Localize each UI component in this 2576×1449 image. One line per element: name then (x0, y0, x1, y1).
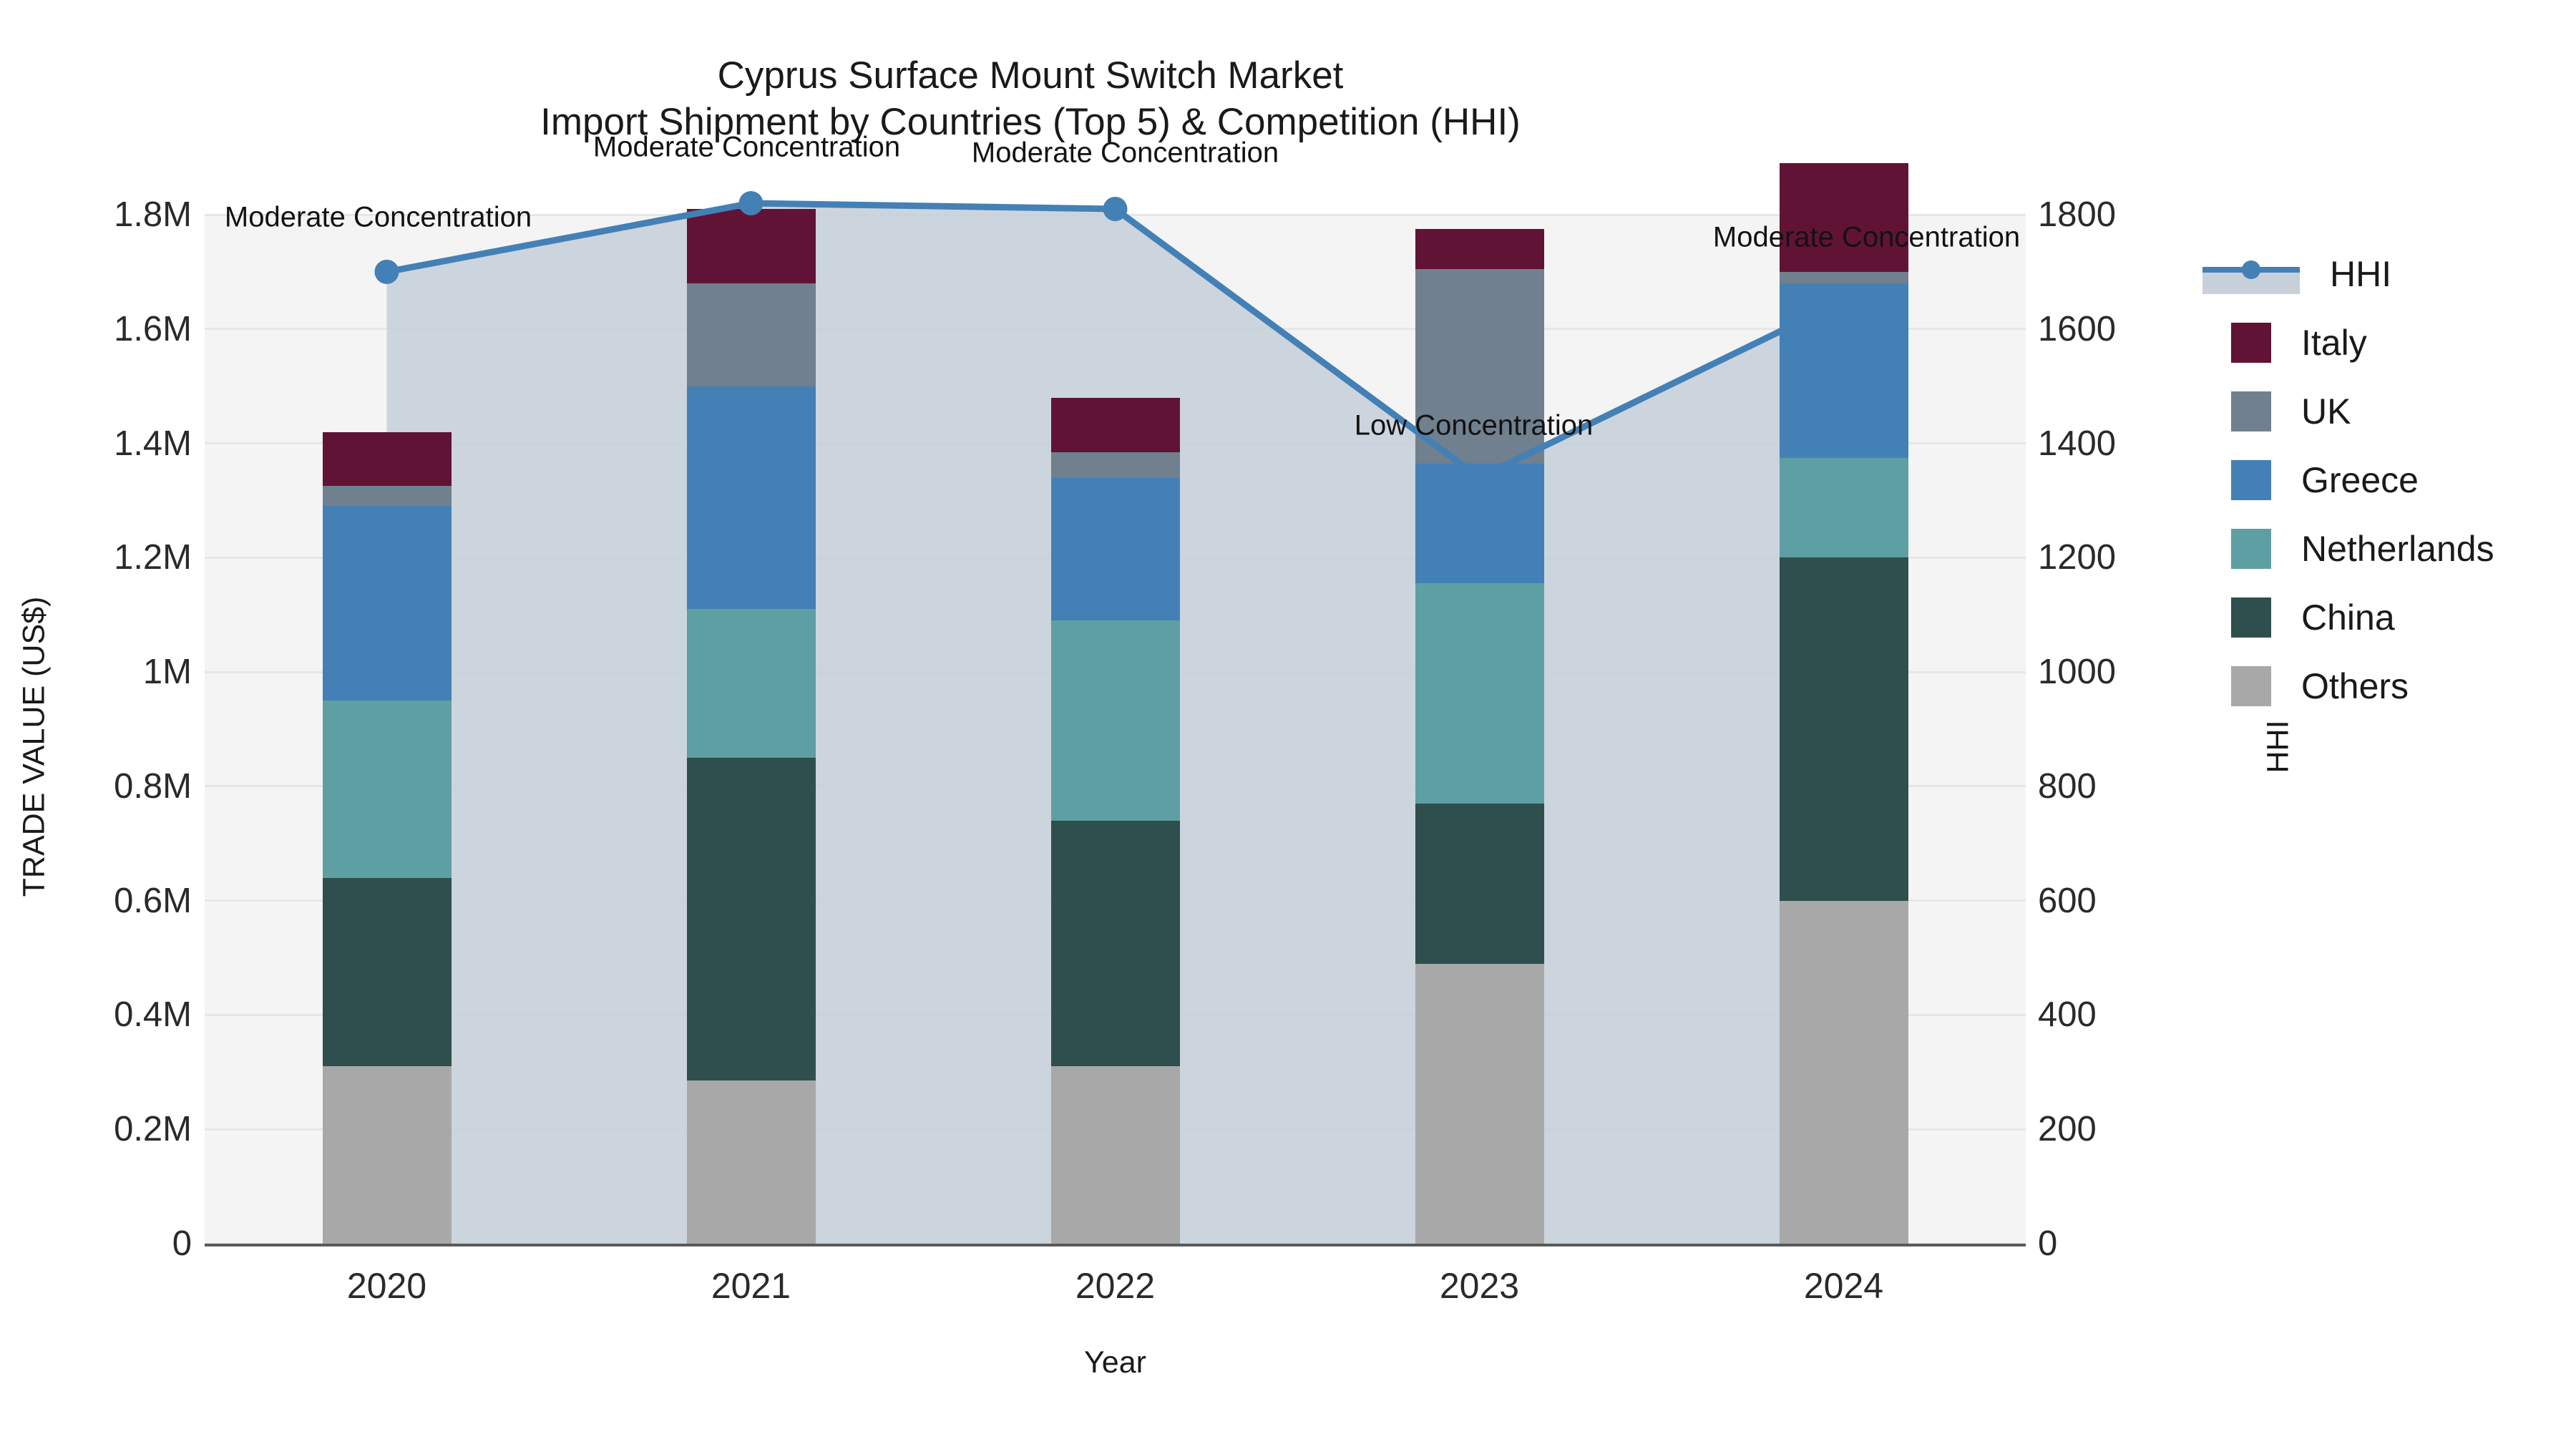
chart-title: Cyprus Surface Mount Switch Market Impor… (0, 53, 2061, 145)
legend-swatch-icon (2231, 666, 2271, 706)
legend-label: Others (2301, 665, 2409, 707)
legend-swatch-icon (2231, 323, 2271, 363)
y-right-tick-label: 1000 (2038, 652, 2224, 692)
y-left-tick-label: 0.4M (6, 995, 192, 1035)
y-left-tick-label: 0 (6, 1224, 192, 1264)
annotation-2020: Moderate Concentration (225, 201, 532, 233)
legend-item-china[interactable]: China (2231, 583, 2560, 652)
legend-swatch-icon (2231, 597, 2271, 638)
y-right-tick-label: 200 (2038, 1109, 2224, 1149)
legend-line-icon (2202, 254, 2300, 294)
hhi-line-overlay (205, 215, 2026, 1244)
y-axis-right-ticks: 020040060080010001200140016001800 (2038, 0, 2238, 1449)
legend-swatch-icon (2231, 529, 2271, 569)
legend-item-netherlands[interactable]: Netherlands (2231, 514, 2560, 583)
chart-title-line-1: Cyprus Surface Mount Switch Market (0, 53, 2061, 99)
legend-label: Italy (2301, 322, 2367, 364)
legend: HHIItalyUKGreeceNetherlandsChinaOthers (2231, 240, 2560, 721)
legend-label: UK (2301, 391, 2351, 432)
hhi-marker-2020[interactable] (375, 260, 399, 284)
legend-item-uk[interactable]: UK (2231, 377, 2560, 446)
annotation-2022: Moderate Concentration (972, 137, 1279, 170)
hhi-line-path (387, 203, 1844, 477)
x-tick-label-2023: 2023 (1372, 1265, 1587, 1307)
y-right-tick-label: 600 (2038, 881, 2224, 921)
annotation-2021: Moderate Concentration (593, 132, 900, 164)
y-axis-left-title: TRADE VALUE (US$) (17, 547, 52, 947)
legend-label: China (2301, 597, 2395, 638)
y-left-tick-label: 0.2M (6, 1109, 192, 1149)
y-right-tick-label: 1400 (2038, 424, 2224, 464)
legend-label: Netherlands (2301, 528, 2494, 570)
y-left-tick-label: 1.8M (6, 195, 192, 235)
y-right-tick-label: 1200 (2038, 537, 2224, 577)
y-right-tick-label: 1600 (2038, 309, 2224, 349)
y-left-tick-label: 1.4M (6, 424, 192, 464)
legend-line-marker-icon (2242, 260, 2260, 279)
legend-item-others[interactable]: Others (2231, 652, 2560, 721)
y-right-tick-label: 0 (2038, 1224, 2224, 1264)
annotation-2023: Low Concentration (1355, 410, 1594, 442)
hhi-marker-2024[interactable] (1832, 288, 1856, 313)
x-axis-title: Year (205, 1345, 2026, 1380)
y-right-tick-label: 400 (2038, 995, 2224, 1035)
legend-label: Greece (2301, 459, 2419, 501)
legend-label: HHI (2330, 253, 2391, 295)
hhi-marker-2022[interactable] (1103, 197, 1128, 221)
legend-swatch-icon (2231, 391, 2271, 431)
x-tick-label-2020: 2020 (280, 1265, 494, 1307)
hhi-marker-2023[interactable] (1468, 465, 1492, 489)
y-right-tick-label: 800 (2038, 766, 2224, 806)
hhi-marker-2021[interactable] (739, 191, 763, 215)
x-tick-label-2024: 2024 (1737, 1265, 1951, 1307)
x-axis-line (205, 1244, 2026, 1246)
y-right-tick-label: 1800 (2038, 195, 2224, 235)
chart-root: Cyprus Surface Mount Switch Market Impor… (0, 0, 2576, 1449)
legend-item-italy[interactable]: Italy (2231, 308, 2560, 377)
x-tick-label-2021: 2021 (644, 1265, 859, 1307)
y-left-tick-label: 1.6M (6, 309, 192, 349)
legend-swatch-icon (2231, 460, 2271, 500)
annotation-2024: Moderate Concentration (1713, 221, 2020, 253)
legend-item-greece[interactable]: Greece (2231, 446, 2560, 514)
legend-item-hhi[interactable]: HHI (2231, 240, 2560, 308)
x-tick-label-2022: 2022 (1008, 1265, 1223, 1307)
